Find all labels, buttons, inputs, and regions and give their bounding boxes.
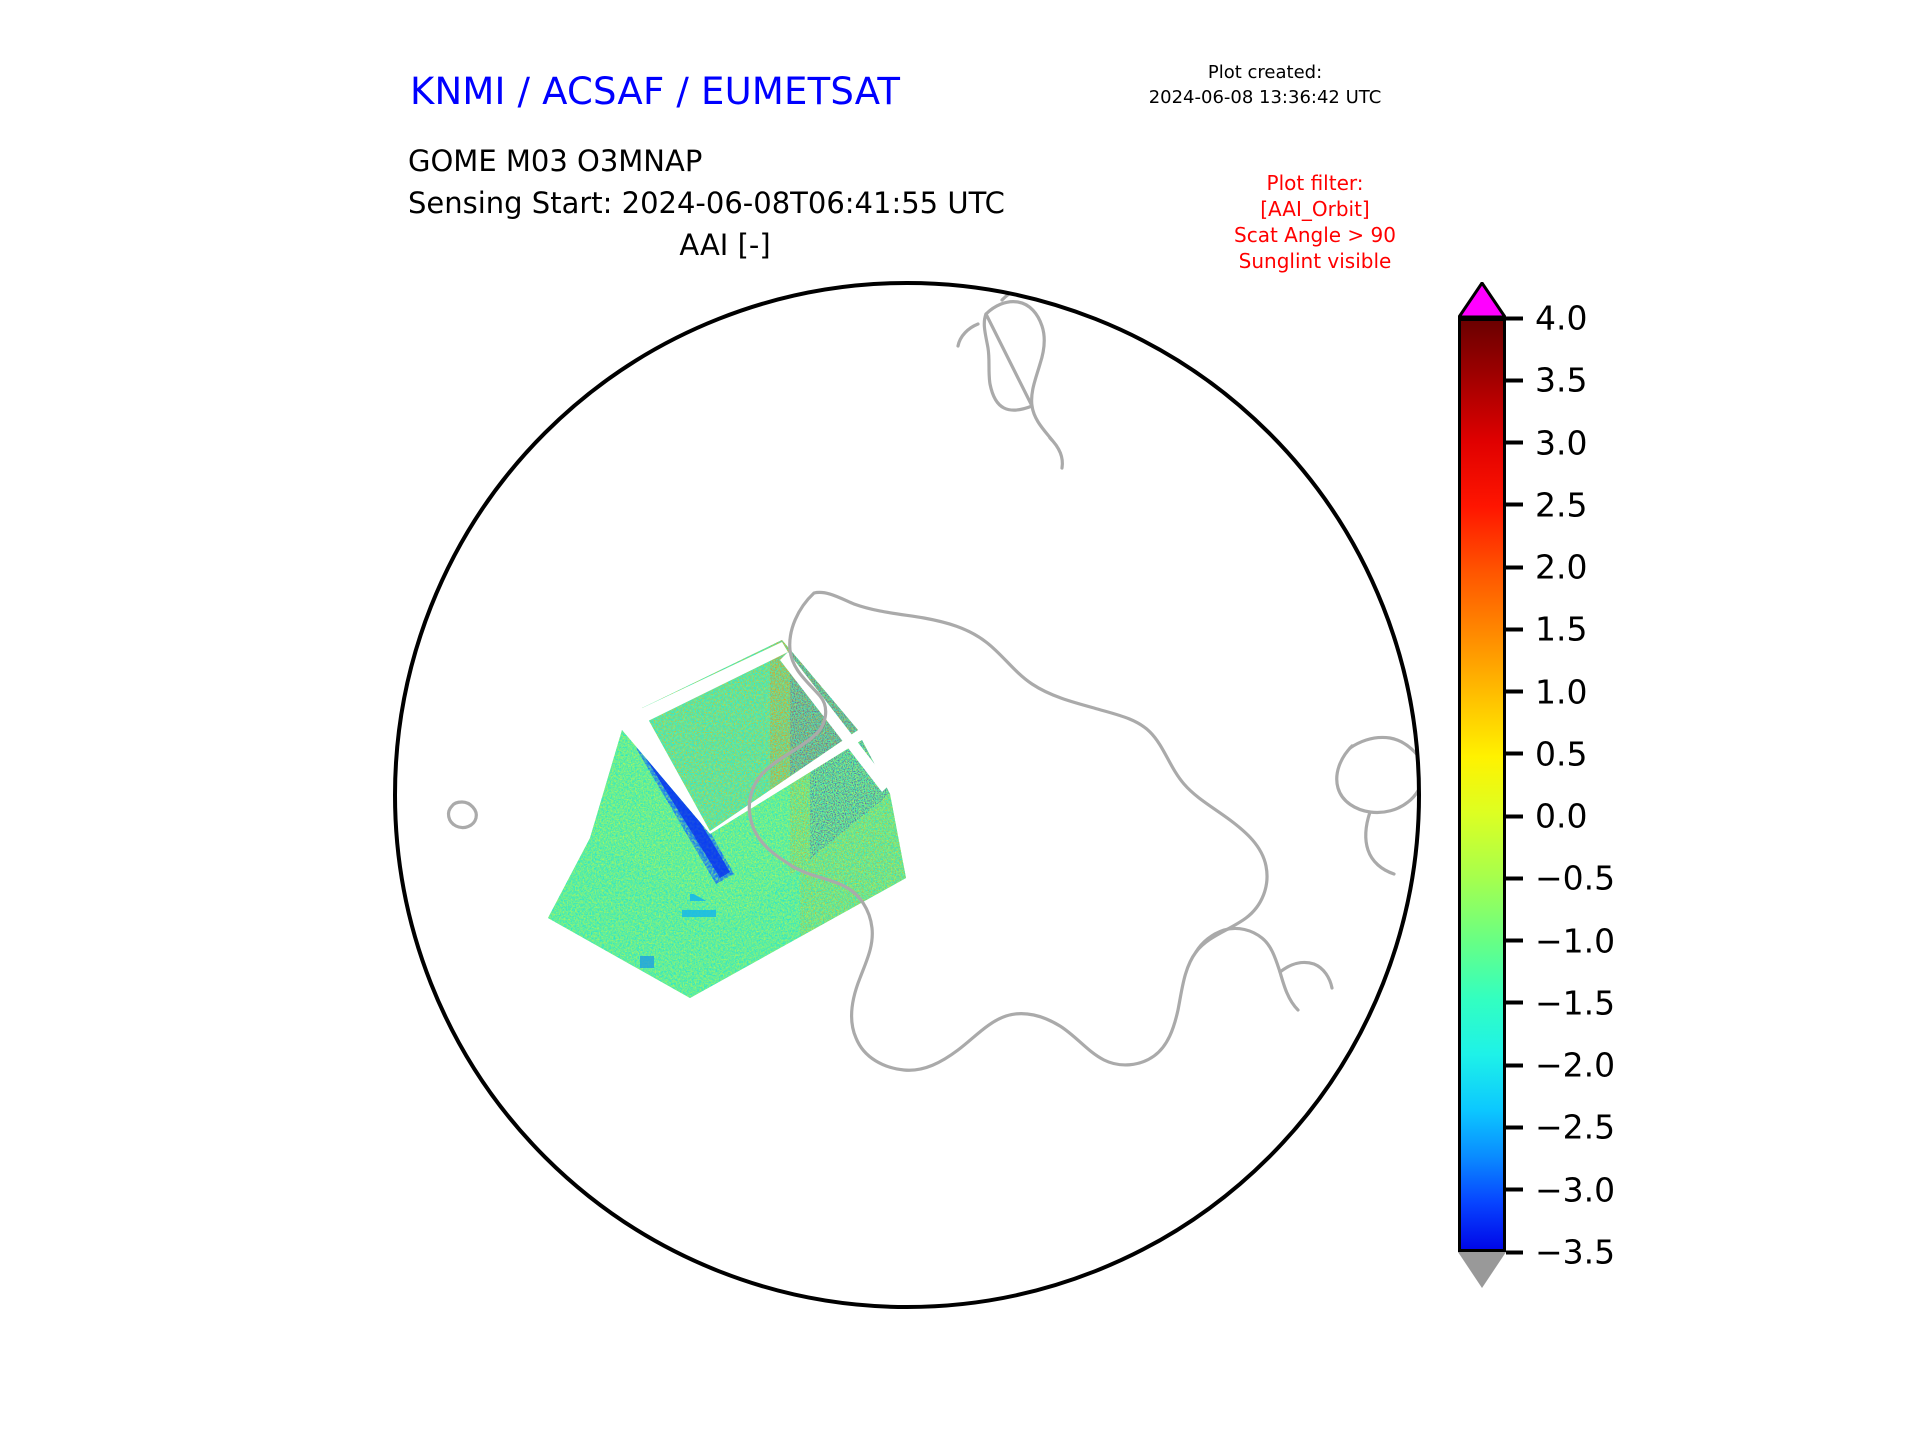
colorbar-tick: 0.5: [1506, 737, 1587, 770]
colorbar: 4.03.53.02.52.01.51.00.50.0−0.5−1.0−1.5−…: [1440, 282, 1620, 1302]
colorbar-tick-label: 4.0: [1535, 302, 1587, 335]
coastline-paths: [449, 284, 1424, 1070]
colorbar-tick-label: −2.0: [1535, 1049, 1615, 1082]
colorbar-tick-label: −2.5: [1535, 1111, 1615, 1144]
colorbar-tick-mark: [1506, 1063, 1523, 1067]
colorbar-tick: 2.0: [1506, 551, 1587, 584]
colorbar-tick: 1.0: [1506, 675, 1587, 708]
colorbar-tick-label: −1.0: [1535, 924, 1615, 957]
colorbar-tick: −2.5: [1506, 1111, 1615, 1144]
plot-filter-scat-angle: Scat Angle > 90: [1170, 222, 1460, 248]
colorbar-tick-label: −3.5: [1535, 1236, 1615, 1269]
colorbar-tick: −1.5: [1506, 986, 1615, 1019]
colorbar-tick: −3.5: [1506, 1236, 1615, 1269]
colorbar-tick: −1.0: [1506, 924, 1615, 957]
polar-stereographic-map: [390, 278, 1425, 1313]
colorbar-tick: 1.5: [1506, 613, 1587, 646]
colorbar-tick-mark: [1506, 1188, 1523, 1192]
plot-filter-block: Plot filter: [AAI_Orbit] Scat Angle > 90…: [1170, 170, 1460, 274]
colorbar-tick-label: 1.0: [1535, 675, 1587, 708]
colorbar-tick: −2.0: [1506, 1049, 1615, 1082]
plot-created-timestamp: 2024-06-08 13:36:42 UTC: [1100, 85, 1430, 110]
colorbar-tick-label: −0.5: [1535, 862, 1615, 895]
colorbar-tick-mark: [1506, 441, 1523, 445]
colorbar-tick-list: 4.03.53.02.52.01.51.00.50.0−0.5−1.0−1.5−…: [1440, 282, 1620, 1302]
colorbar-tick-mark: [1506, 627, 1523, 631]
colorbar-tick-label: 2.5: [1535, 488, 1587, 521]
colorbar-tick-label: 0.0: [1535, 800, 1587, 833]
colorbar-tick-label: 2.0: [1535, 551, 1587, 584]
map-boundary-circle: [395, 283, 1419, 1307]
colorbar-tick-mark: [1506, 1250, 1523, 1254]
colorbar-tick-label: −1.5: [1535, 986, 1615, 1019]
plot-created-label: Plot created:: [1100, 60, 1430, 85]
plot-created-block: Plot created: 2024-06-08 13:36:42 UTC: [1100, 60, 1430, 110]
colorbar-tick-mark: [1506, 939, 1523, 943]
colorbar-tick-mark: [1506, 503, 1523, 507]
colorbar-tick-label: 3.5: [1535, 364, 1587, 397]
plot-filter-sunglint: Sunglint visible: [1170, 248, 1460, 274]
plot-filter-label: Plot filter:: [1170, 170, 1460, 196]
colorbar-tick-label: 3.0: [1535, 426, 1587, 459]
colorbar-tick: 3.5: [1506, 364, 1587, 397]
data-swath: [540, 628, 920, 1018]
colorbar-tick-label: 1.5: [1535, 613, 1587, 646]
colorbar-tick-mark: [1506, 378, 1523, 382]
sensing-start: Sensing Start: 2024-06-08T06:41:55 UTC: [408, 182, 1005, 224]
product-info-block: GOME M03 O3MNAP Sensing Start: 2024-06-0…: [408, 140, 1005, 224]
product-name: GOME M03 O3MNAP: [408, 140, 1005, 182]
plot-filter-name: [AAI_Orbit]: [1170, 196, 1460, 222]
colorbar-tick-mark: [1506, 876, 1523, 880]
organisation-title: KNMI / ACSAF / EUMETSAT: [410, 70, 900, 113]
colorbar-tick: 0.0: [1506, 800, 1587, 833]
colorbar-tick-mark: [1506, 316, 1523, 320]
colorbar-tick: 4.0: [1506, 302, 1587, 335]
colorbar-tick-label: 0.5: [1535, 737, 1587, 770]
colorbar-tick-mark: [1506, 814, 1523, 818]
colorbar-tick-mark: [1506, 1001, 1523, 1005]
colorbar-tick: −0.5: [1506, 862, 1615, 895]
colorbar-tick: 2.5: [1506, 488, 1587, 521]
colorbar-tick: 3.0: [1506, 426, 1587, 459]
map-plot-area: [390, 278, 1425, 1313]
colorbar-tick-mark: [1506, 565, 1523, 569]
colorbar-tick-mark: [1506, 1125, 1523, 1129]
colorbar-tick: −3.0: [1506, 1173, 1615, 1206]
colorbar-tick-mark: [1506, 690, 1523, 694]
colorbar-tick-mark: [1506, 752, 1523, 756]
colorbar-tick-label: −3.0: [1535, 1173, 1615, 1206]
